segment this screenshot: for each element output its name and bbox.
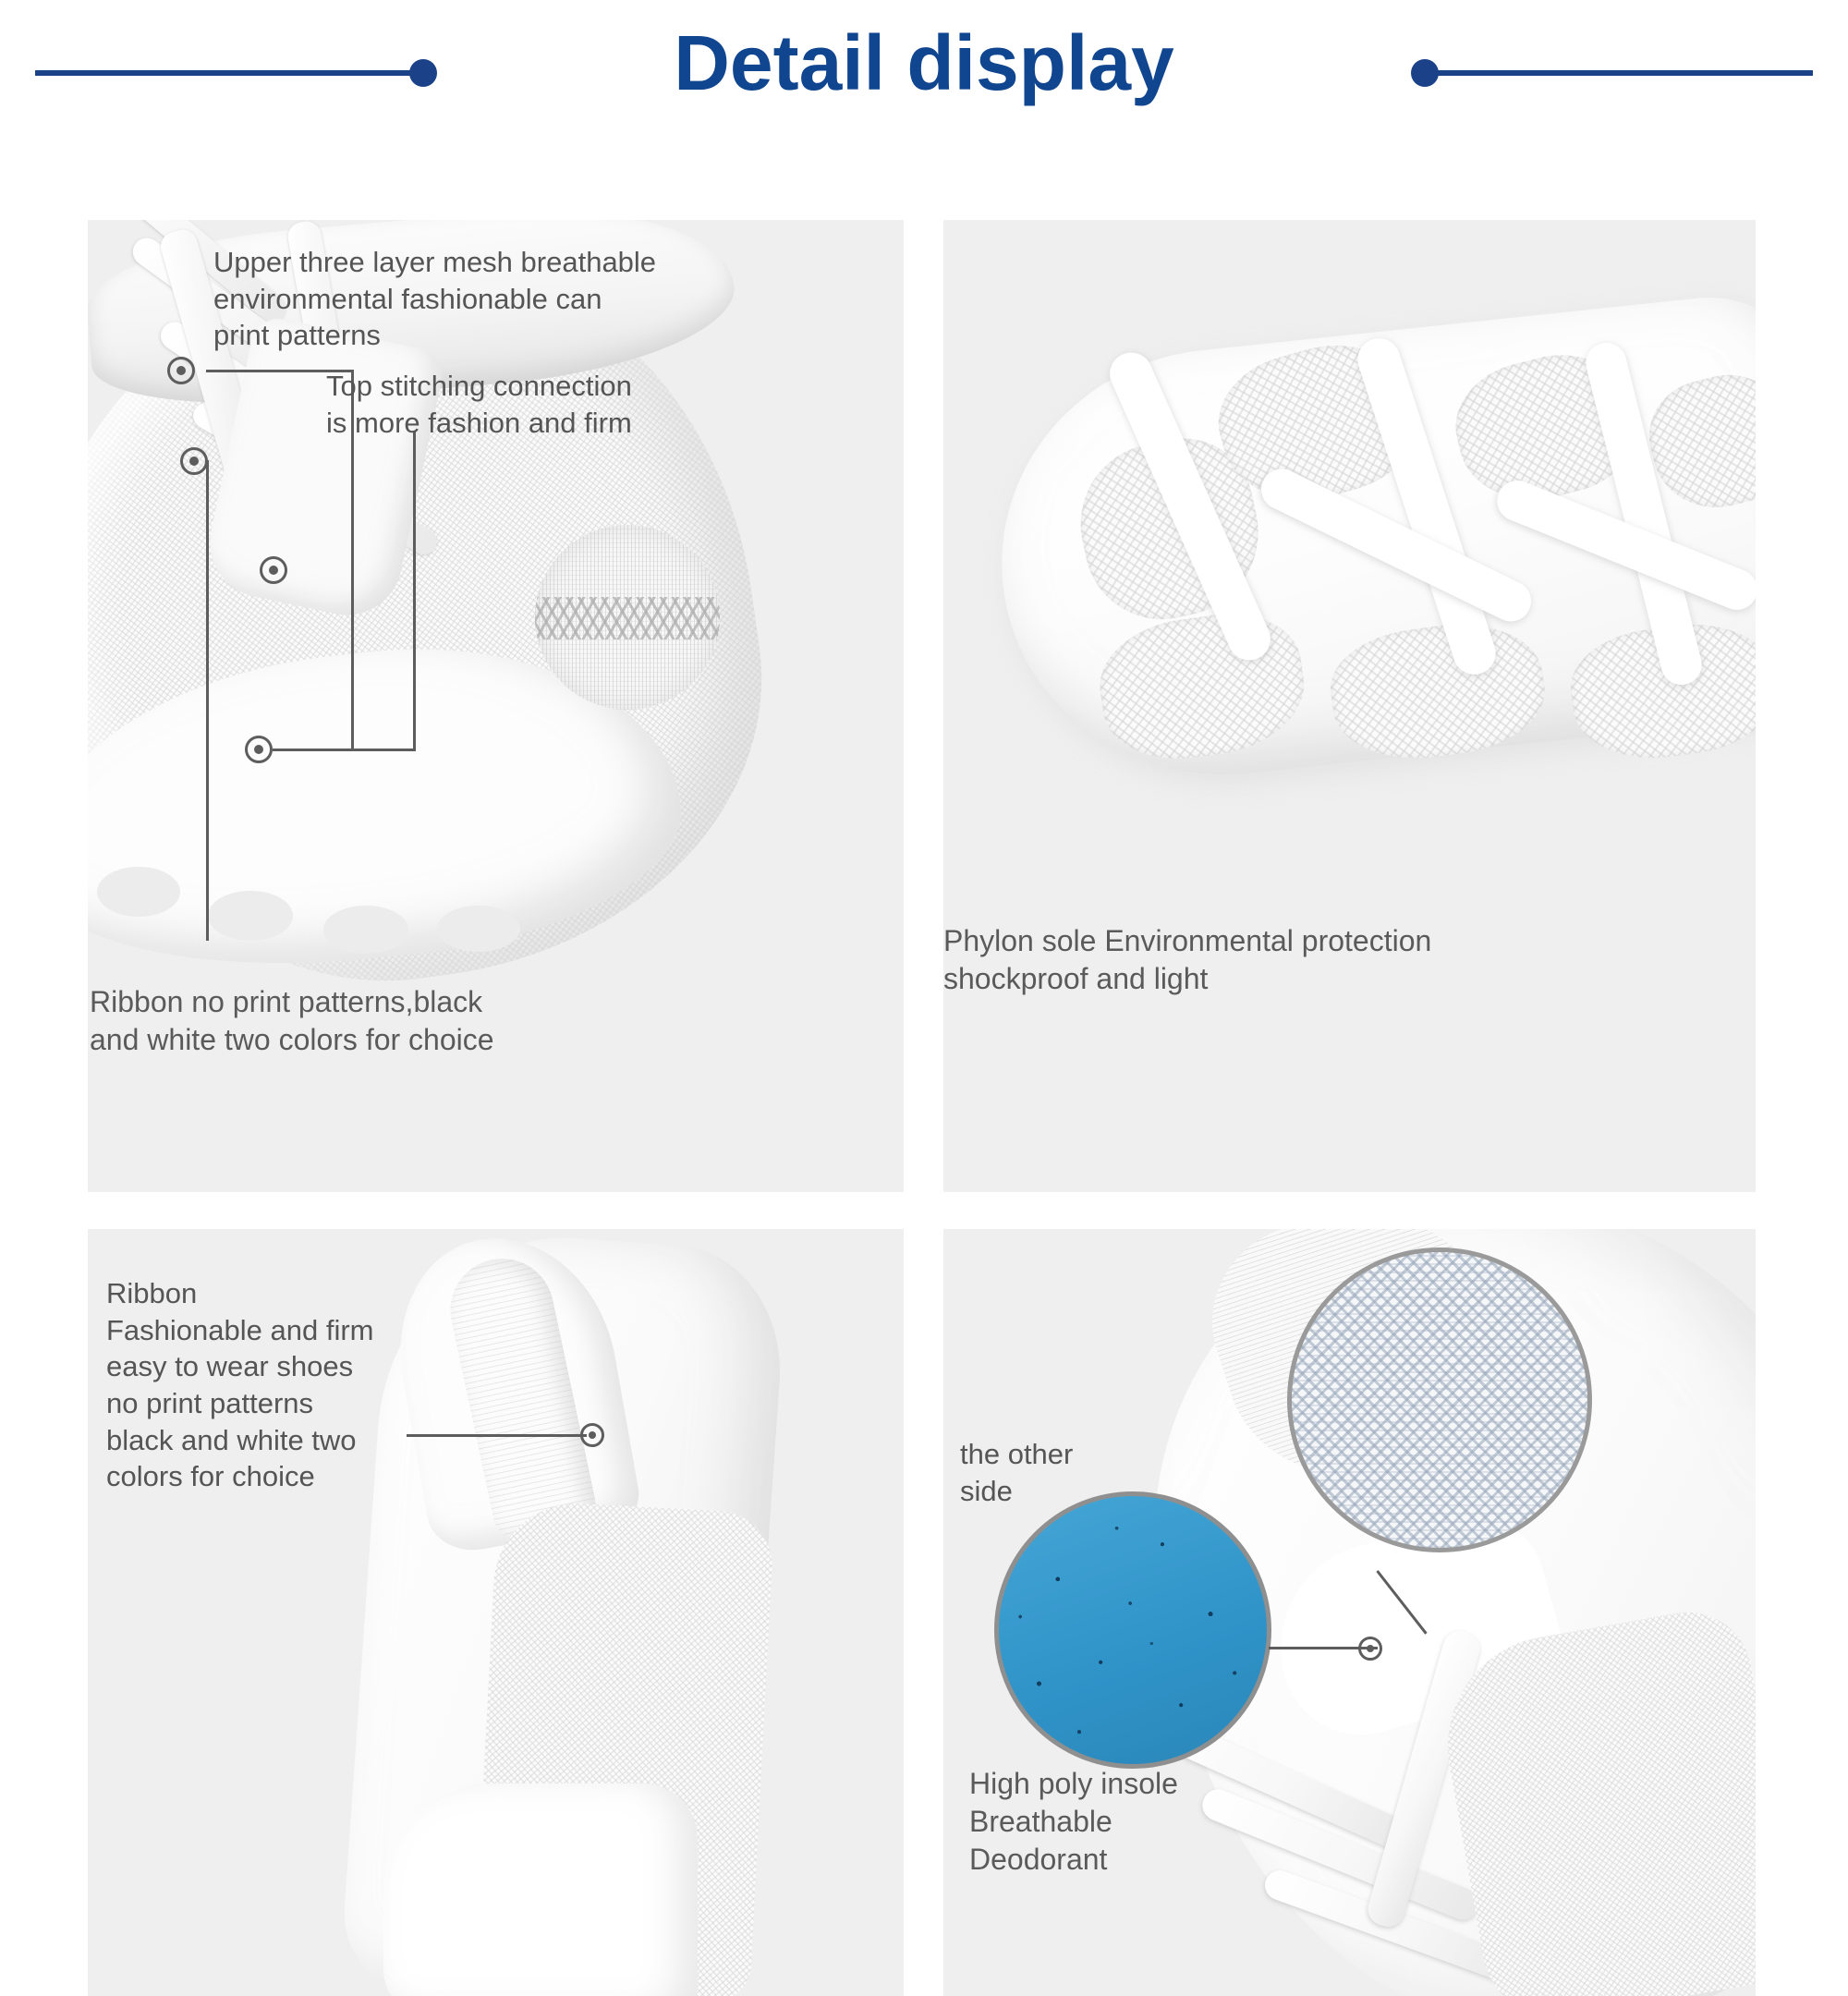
leader-line-ribbon-v [206,460,209,941]
callout-marker-insole[interactable] [1358,1637,1382,1661]
leader-line-stitch-v [413,431,416,750]
panel-phylon-sole[interactable]: Phylon sole Environmental protection sho… [943,220,1756,1192]
ribbon-colors-caption: Ribbon no print patterns,black and white… [88,983,792,1059]
detail-panel-grid: Upper three layer mesh breathable enviro… [0,148,1848,1970]
phylon-sole-caption: Phylon sole Environmental protection sho… [943,922,1683,998]
callout-marker-stitch[interactable] [245,736,273,763]
callout-marker-upper[interactable] [260,556,287,584]
callout-marker-ribbon[interactable] [180,447,208,475]
leader-line-fabric [1376,1570,1427,1635]
leader-line-stitch-h [273,748,416,751]
callout-marker-mesh[interactable] [167,357,195,384]
decorative-line-right-icon [1423,70,1813,76]
panel-ribbon-heel[interactable]: Ribbon Fashionable and firm easy to wear… [88,1229,904,1996]
panel-upper-mesh[interactable]: Upper three layer mesh breathable enviro… [88,220,904,1192]
page-header: Detail display [0,0,1848,148]
upper-mesh-callout: Upper three layer mesh breathable enviro… [213,244,786,354]
other-side-callout: the other side [960,1436,1200,1509]
stitching-zoom-circle [535,525,720,710]
fabric-zoom-circle [1287,1247,1592,1552]
callout-marker-ribbon-detail[interactable] [580,1423,604,1447]
panel-insole[interactable]: the other side High poly insole Breathab… [943,1229,1756,1996]
phylon-outsole-photo [943,220,1756,1192]
insole-zoom-circle [994,1491,1271,1769]
top-stitching-callout: Top stitching connection is more fashion… [326,368,807,441]
high-poly-insole-caption: High poly insole Breathable Deodorant [969,1765,1357,1879]
ribbon-detail-callout: Ribbon Fashionable and firm easy to wear… [106,1275,476,1495]
page-title: Detail display [0,7,1848,118]
